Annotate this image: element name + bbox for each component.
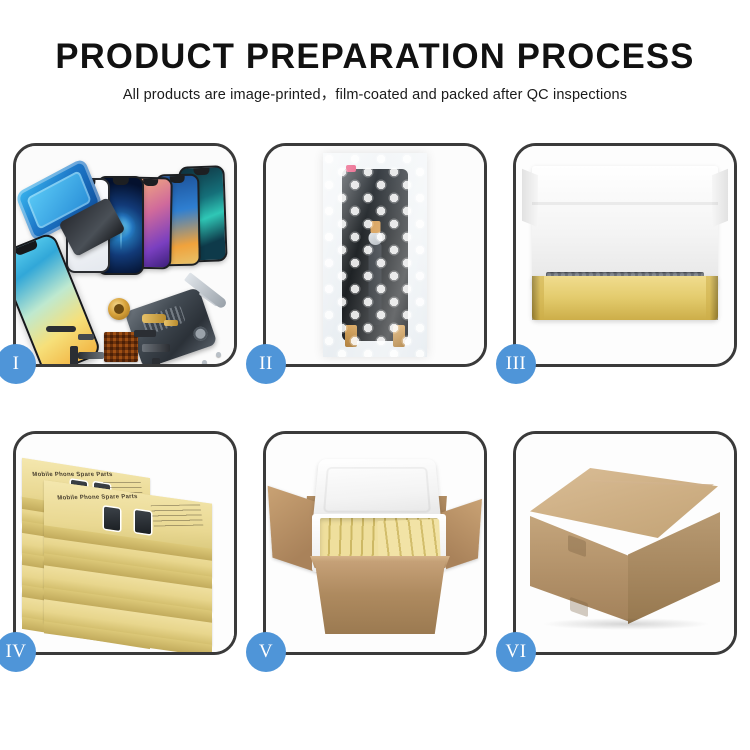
step-image-5 [266,434,484,652]
yellow-box-tray [532,276,718,320]
spare-part [152,358,160,364]
box-label-spec-lines [150,505,203,527]
spare-part [164,320,178,326]
copper-coil-part [108,298,130,320]
step-panel-5: V [263,431,487,655]
step-image-4: Mobile Phone Spare Parts Mobile Phone Sp… [16,434,234,652]
step-badge-2: II [246,344,286,384]
spare-part [142,344,170,352]
foam-lid [313,459,442,522]
step-badge-3: III [496,344,536,384]
spare-part [78,352,104,359]
carton-shadow [542,618,710,630]
spare-part [78,334,94,340]
box-label-thumbnail [104,507,120,531]
step-panel-2: II [263,143,487,367]
header: PRODUCT PREPARATION PROCESS All products… [0,36,750,105]
step-image-1 [16,146,234,364]
spare-part [142,314,166,323]
carton-body [306,562,454,634]
step-panel-1: I [13,143,237,367]
step-panel-3: III [513,143,737,367]
infographic-page: PRODUCT PREPARATION PROCESS All products… [0,0,750,750]
step-panel-6: VI [513,431,737,655]
lid-crease [532,202,718,205]
step-badge-5: V [246,632,286,672]
step-image-3 [516,146,734,364]
step-image-6 [516,434,734,652]
spare-part [46,326,76,332]
spare-part [134,330,156,337]
page-subtitle: All products are image-printed，film-coat… [0,85,750,105]
box-label-thumbnail [135,509,151,533]
step-badge-1: I [0,344,36,384]
box-label-text: Mobile Phone Spare Parts [32,472,113,478]
step-panel-4: Mobile Phone Spare Parts Mobile Phone Sp… [13,431,237,655]
spare-part [70,346,78,364]
step-image-2 [266,146,484,364]
page-title: PRODUCT PREPARATION PROCESS [4,36,747,78]
screw-part [202,360,207,364]
step-badge-6: VI [496,632,536,672]
plastic-sheen [323,153,427,357]
white-box-lid [532,166,718,288]
process-steps-grid: I II [13,143,737,681]
connector-grid-part [104,332,138,362]
bubble-wrap-bag [323,153,427,357]
screw-part [216,352,221,357]
step-badge-4: IV [0,632,36,672]
